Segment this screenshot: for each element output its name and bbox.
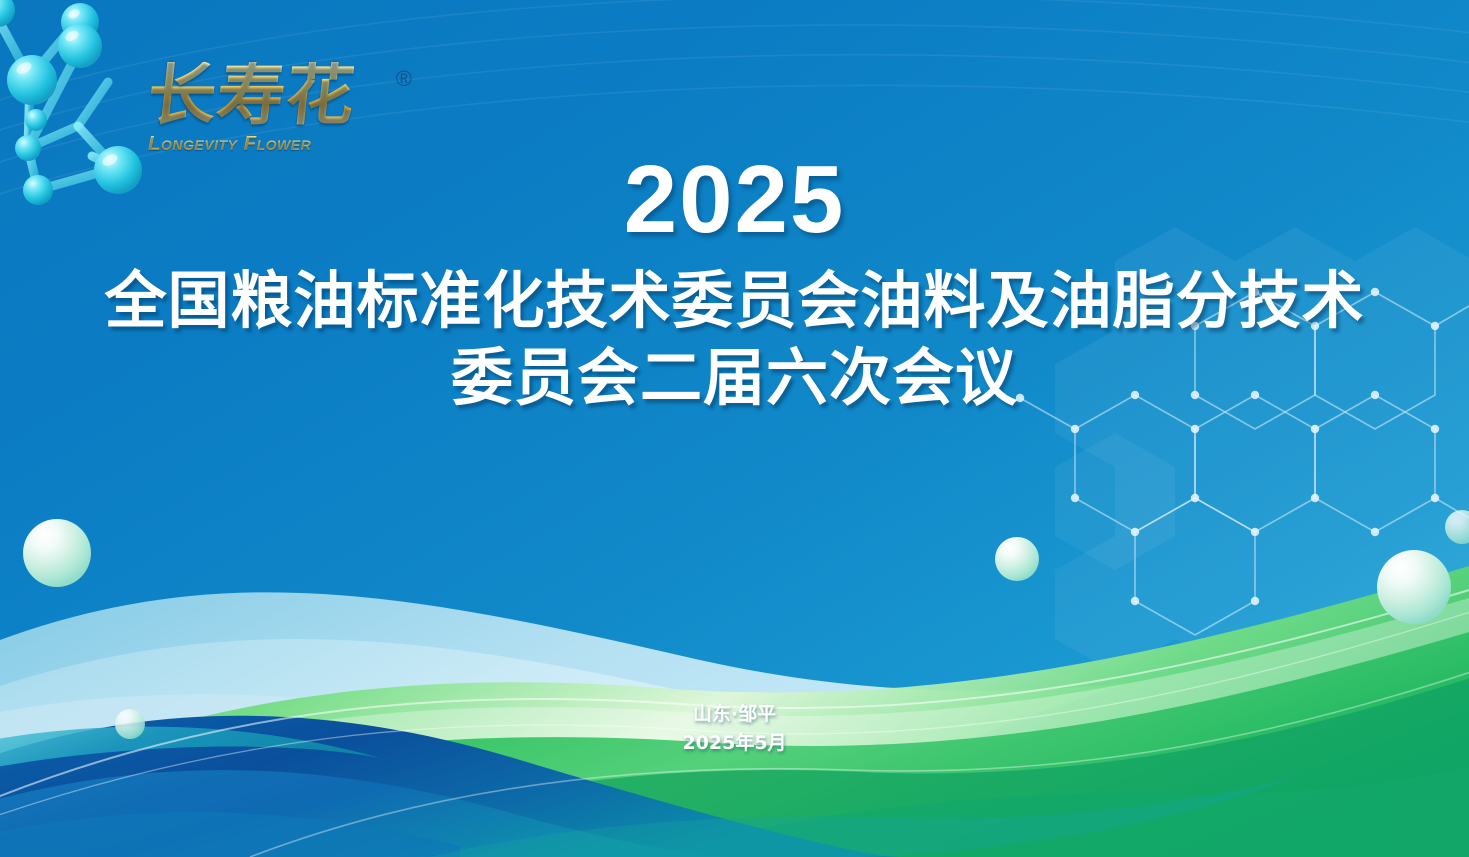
event-title-line-1: 全国粮油标准化技术委员会油料及油脂分技术 [0, 262, 1469, 340]
registered-trademark-icon: ® [396, 66, 412, 92]
event-title-line-2: 委员会二届六次会议 [0, 339, 1469, 417]
event-footer: 山东·邹平 2025年5月 [0, 700, 1469, 759]
event-year: 2025 [0, 150, 1469, 250]
conference-backdrop: 长寿花 ® Longevity Flower 2025 全国粮油标准化技术委员会… [0, 0, 1469, 857]
headline-block: 2025 全国粮油标准化技术委员会油料及油脂分技术 委员会二届六次会议 [0, 150, 1469, 417]
logo-chinese-name: 长寿花 [144, 62, 411, 130]
event-date: 2025年5月 [0, 729, 1469, 758]
event-location: 山东·邹平 [0, 700, 1469, 729]
